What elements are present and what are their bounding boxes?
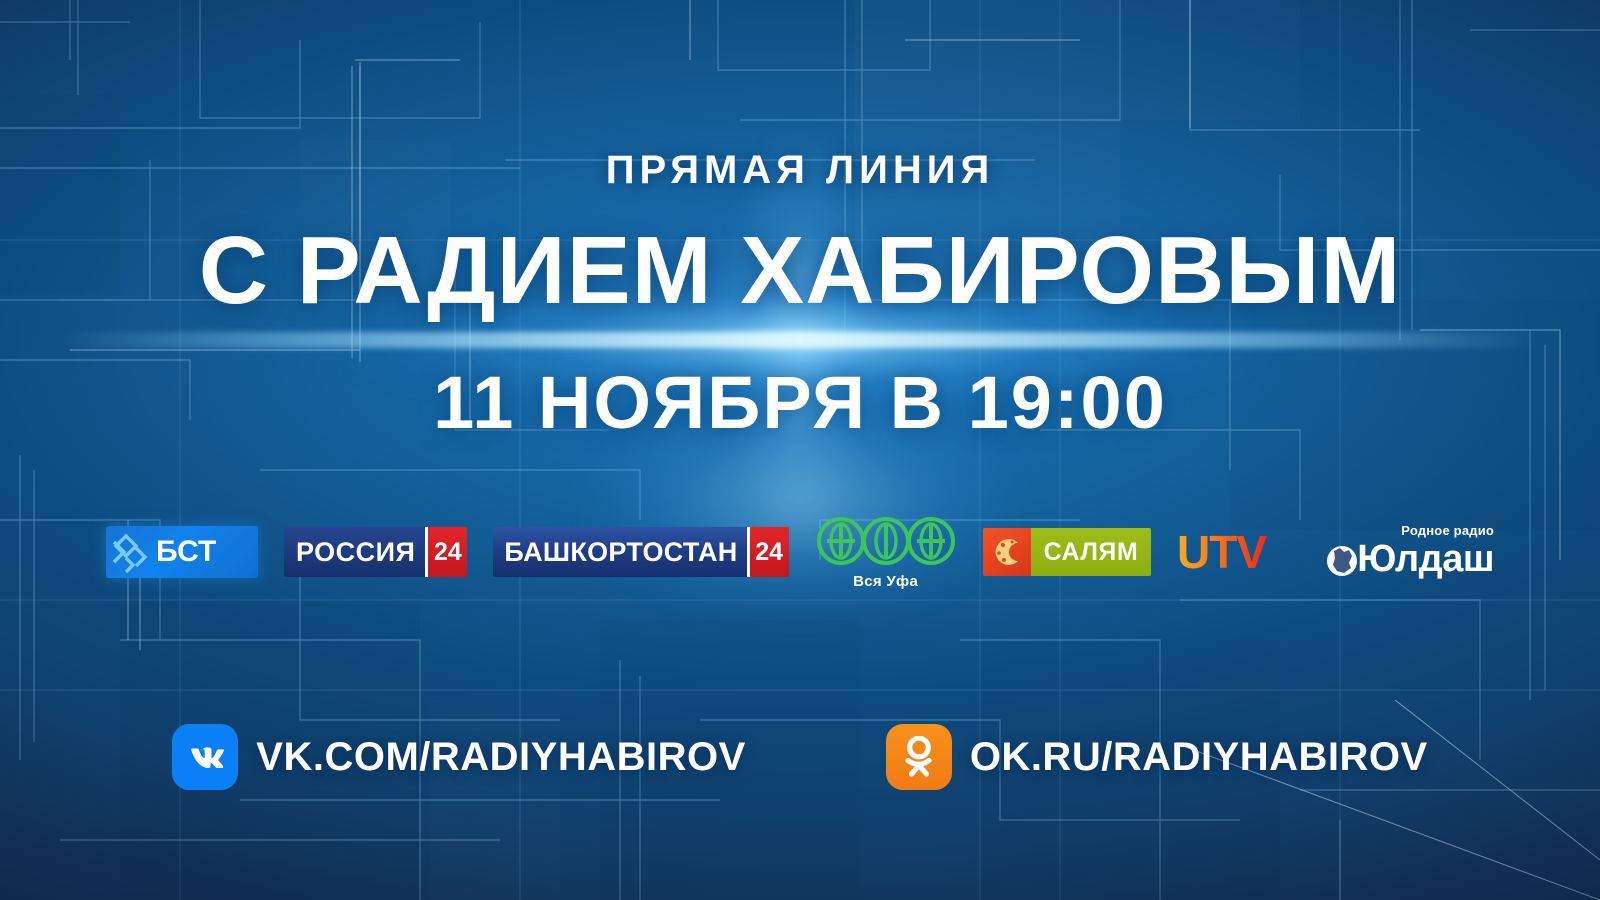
bashkir-ornament-icon <box>106 526 152 578</box>
logo-rossiya-badge: 24 <box>425 527 467 577</box>
logo-bashkortostan-label: БАШКОРТОСТАН <box>493 527 746 577</box>
logo-ufa: Вся Уфа <box>815 515 957 589</box>
vk-icon[interactable] <box>172 724 238 790</box>
logo-yuldash-label: Юлдаш <box>1357 540 1494 578</box>
utv-wordmark-icon: UTV <box>1177 527 1299 577</box>
svg-text:UTV: UTV <box>1177 527 1267 577</box>
logo-ufa-sublabel: Вся Уфа <box>853 573 918 590</box>
logo-rossiya-24: РОССИЯ 24 <box>284 526 467 578</box>
page-title: С РАДИЕМ ХАБИРОВЫМ <box>0 216 1600 326</box>
logo-utv: UTV <box>1177 526 1299 578</box>
ok-url-label[interactable]: OK.RU/RADIYHABIROV <box>970 735 1428 780</box>
bashkortostan-map-icon <box>1325 539 1359 579</box>
logo-bashkortostan-24: БАШКОРТОСТАН 24 <box>493 526 788 578</box>
logo-bst: БСТ <box>106 526 258 578</box>
broadcaster-logo-strip: БСТ РОССИЯ 24 БАШКОРТОСТАН 24 <box>0 524 1600 580</box>
social-links: VK.COM/RADIYHABIROV OK.RU/RADIYHABIROV <box>0 724 1600 790</box>
salam-monogram-icon <box>983 528 1031 576</box>
vk-url-label[interactable]: VK.COM/RADIYHABIROV <box>256 735 746 780</box>
ufa-circles-icon <box>815 515 957 567</box>
social-link-ok[interactable]: OK.RU/RADIYHABIROV <box>886 724 1428 790</box>
logo-bst-label: БСТ <box>156 526 216 578</box>
social-link-vk[interactable]: VK.COM/RADIYHABIROV <box>172 724 746 790</box>
kicker-text: ПРЯМАЯ ЛИНИЯ <box>0 148 1600 193</box>
logo-bashkortostan-badge: 24 <box>747 527 789 577</box>
logo-salam: САЛЯМ <box>983 526 1152 578</box>
logo-salam-label: САЛЯМ <box>1031 528 1152 576</box>
event-datetime: 11 НОЯБРЯ В 19:00 <box>0 360 1600 445</box>
logo-yuldash-tagline: Родное радио <box>1401 523 1494 538</box>
logo-rossiya-label: РОССИЯ <box>284 527 425 577</box>
logo-yuldash: Родное радио Юлдаш <box>1325 524 1494 580</box>
ok-icon[interactable] <box>886 724 952 790</box>
